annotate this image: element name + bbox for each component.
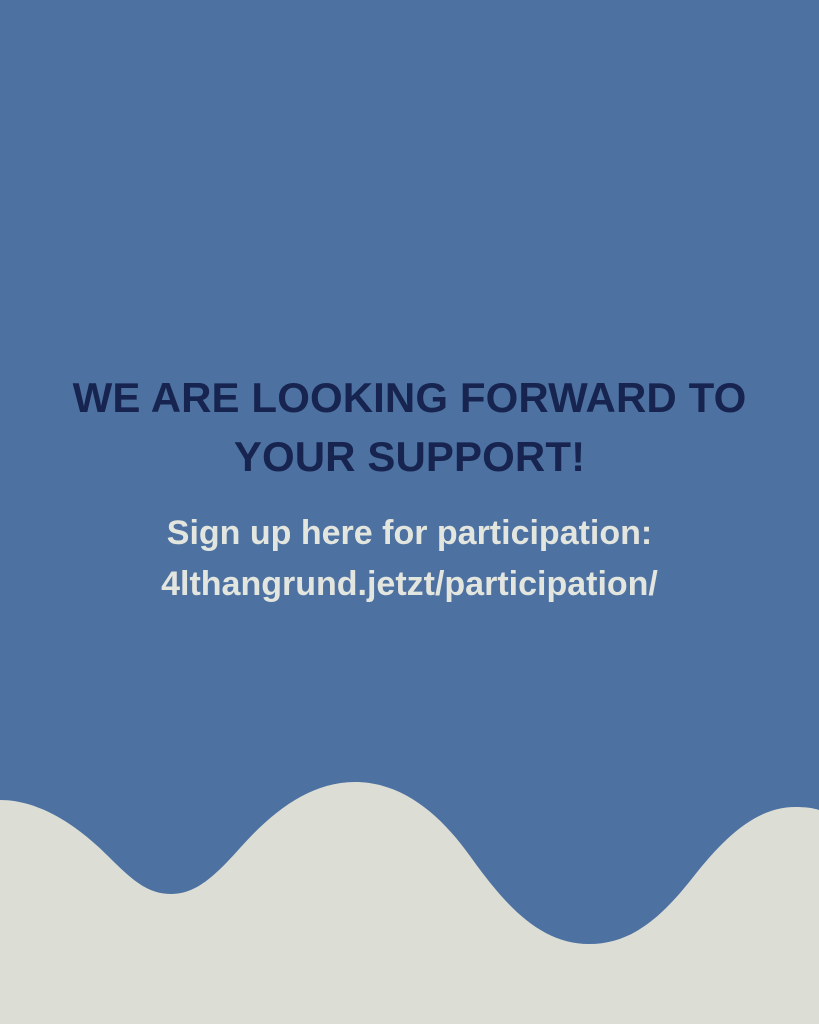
page-title: WE ARE LOOKING FORWARD TO YOUR SUPPORT!: [0, 368, 819, 486]
signup-instruction-text: Sign up here for participation:: [60, 508, 759, 559]
signup-url-text[interactable]: 4lthangrund.jetzt/participation/: [60, 559, 759, 610]
bottom-wave-decoration: [0, 764, 819, 1024]
wave-svg: [0, 764, 819, 1024]
subtitle-block: Sign up here for participation: 4lthangr…: [0, 486, 819, 610]
content-block: WE ARE LOOKING FORWARD TO YOUR SUPPORT! …: [0, 0, 819, 610]
poster-canvas: WE ARE LOOKING FORWARD TO YOUR SUPPORT! …: [0, 0, 819, 1024]
wave-shape: [0, 782, 819, 1024]
